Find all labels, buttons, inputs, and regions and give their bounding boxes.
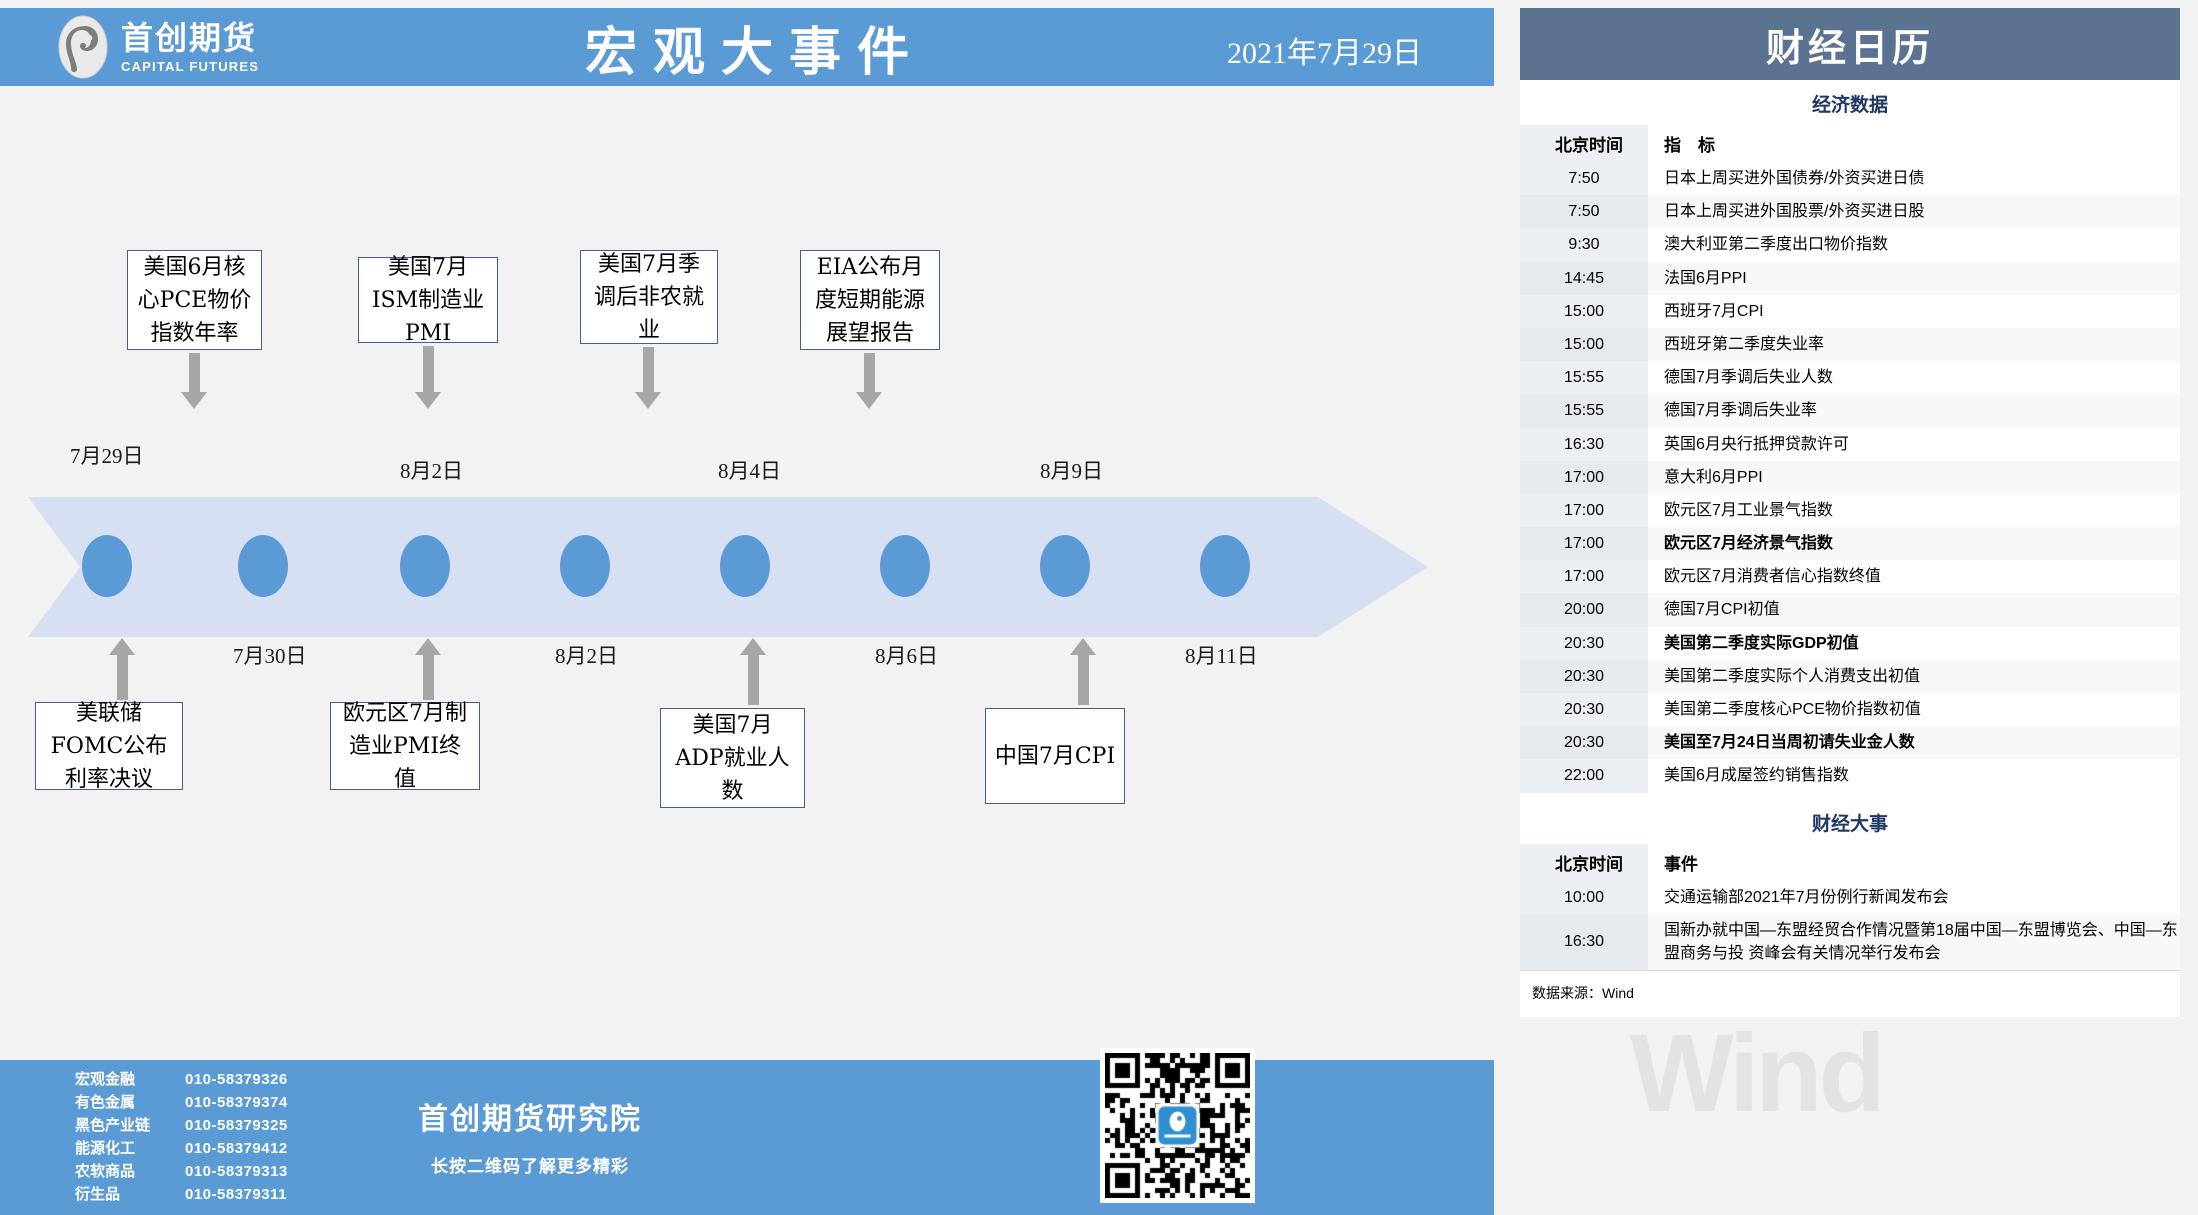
arrow-stem-top-2 — [643, 347, 654, 393]
col-header-event: 事件 — [1648, 844, 2180, 881]
cell-time: 20:30 — [1520, 627, 1648, 660]
contact-phone: 010-58379326 — [185, 1072, 288, 1087]
table-row[interactable]: 17:00意大利6月PPI — [1520, 461, 2180, 494]
events-section-title: 财经大事 — [1520, 793, 2180, 844]
table-row[interactable]: 20:30美国第二季度实际个人消费支出初值 — [1520, 660, 2180, 693]
arrow-stem-top-0 — [189, 353, 200, 393]
timeline-dot-2 — [400, 535, 450, 597]
table-header-row: 北京时间 事件 — [1520, 844, 2180, 881]
cell-indicator: 欧元区7月消费者信心指数终值 — [1648, 560, 2180, 593]
brand-name-en: CAPITAL FUTURES — [121, 60, 259, 73]
timeline-top-label-3: 8月9日 — [1040, 455, 1103, 485]
arrow-head-down-0 — [181, 392, 207, 409]
timeline-bottom-label-1: 8月2日 — [555, 640, 618, 670]
cell-time: 15:00 — [1520, 295, 1648, 328]
cell-indicator: 欧元区7月工业景气指数 — [1648, 494, 2180, 527]
event-box-bottom-2: 美国7月ADP就业人数 — [660, 708, 805, 808]
cell-time: 16:30 — [1520, 914, 1648, 970]
table-row[interactable]: 15:00西班牙7月CPI — [1520, 295, 2180, 328]
cell-time: 16:30 — [1520, 428, 1648, 461]
events-table: 北京时间 事件 10:00交通运输部2021年7月份例行新闻发布会16:30国新… — [1520, 844, 2180, 971]
arrow-head-down-3 — [856, 392, 882, 409]
cell-event: 国新办就中国—东盟经贸合作情况暨第18届中国—东盟博览会、中国—东盟商务与投 资… — [1648, 914, 2180, 970]
cell-time: 20:00 — [1520, 593, 1648, 626]
brand-name-cn: 首创期货 — [121, 22, 259, 54]
event-box-top-1: 美国7月ISM制造业PMI — [358, 257, 498, 343]
cell-indicator: 德国7月季调后失业人数 — [1648, 361, 2180, 394]
cell-time: 20:30 — [1520, 726, 1648, 759]
cell-indicator: 美国第二季度实际个人消费支出初值 — [1648, 660, 2180, 693]
footer-center: 首创期货研究院 长按二维码了解更多精彩 — [0, 1094, 1060, 1177]
arrow-stem-bottom-3 — [1078, 655, 1089, 705]
timeline-dot-5 — [880, 535, 930, 597]
qr-code-icon[interactable] — [1100, 1048, 1255, 1203]
table-row[interactable]: 20:30美国至7月24日当周初请失业金人数 — [1520, 726, 2180, 759]
arrow-stem-top-1 — [423, 346, 434, 393]
col-header-indicator: 指 标 — [1648, 125, 2180, 162]
table-row[interactable]: 17:00欧元区7月消费者信心指数终值 — [1520, 560, 2180, 593]
timeline-top-label-1: 8月2日 — [400, 455, 463, 485]
footer-org-name: 首创期货研究院 — [0, 1094, 1060, 1138]
timeline-bottom-label-3: 8月11日 — [1185, 640, 1258, 670]
table-row[interactable]: 7:50日本上周买进外国股票/外资买进日股 — [1520, 195, 2180, 228]
calendar-title: 财经日历 — [1520, 8, 2180, 80]
cell-indicator: 美国至7月24日当周初请失业金人数 — [1648, 726, 2180, 759]
event-box-top-2: 美国7月季调后非农就业 — [580, 250, 718, 344]
table-row[interactable]: 10:00交通运输部2021年7月份例行新闻发布会 — [1520, 881, 2180, 914]
cell-indicator: 欧元区7月经济景气指数 — [1648, 527, 2180, 560]
cell-time: 20:30 — [1520, 693, 1648, 726]
timeline-dot-7 — [1200, 535, 1250, 597]
cell-indicator: 意大利6月PPI — [1648, 461, 2180, 494]
header-date: 2021年7月29日 — [1227, 28, 1422, 72]
table-row[interactable]: 15:55德国7月季调后失业人数 — [1520, 361, 2180, 394]
event-box-bottom-1: 欧元区7月制造业PMI终值 — [330, 702, 480, 790]
cell-time: 10:00 — [1520, 881, 1648, 914]
footer-cta: 长按二维码了解更多精彩 — [0, 1152, 1060, 1177]
timeline-bottom-label-0: 7月30日 — [233, 640, 307, 670]
timeline-dot-4 — [720, 535, 770, 597]
contact-row: 宏观金融010-58379326 — [75, 1072, 288, 1087]
table-row[interactable]: 20:30美国第二季度核心PCE物价指数初值 — [1520, 693, 2180, 726]
arrow-head-down-2 — [635, 392, 661, 409]
table-row[interactable]: 20:30美国第二季度实际GDP初值 — [1520, 627, 2180, 660]
cell-time: 17:00 — [1520, 560, 1648, 593]
col-header-time: 北京时间 — [1520, 844, 1648, 881]
col-header-time: 北京时间 — [1520, 125, 1648, 162]
timeline-dot-3 — [560, 535, 610, 597]
cell-time: 17:00 — [1520, 527, 1648, 560]
cell-time: 15:55 — [1520, 361, 1648, 394]
cell-indicator: 西班牙7月CPI — [1648, 295, 2180, 328]
table-row[interactable]: 9:30澳大利亚第二季度出口物价指数 — [1520, 228, 2180, 261]
timeline-dot-6 — [1040, 535, 1090, 597]
cell-time: 7:50 — [1520, 162, 1648, 195]
cell-indicator: 德国7月季调后失业率 — [1648, 394, 2180, 427]
cell-time: 9:30 — [1520, 228, 1648, 261]
cell-indicator: 美国第二季度实际GDP初值 — [1648, 627, 2180, 660]
event-box-bottom-3: 中国7月CPI — [985, 708, 1125, 804]
cell-indicator: 美国6月成屋签约销售指数 — [1648, 759, 2180, 792]
right-panel: Wind Wind Wind 财经日历 经济数据 北京时间 指 标 7:50日本… — [1500, 0, 2198, 1215]
table-header-row: 北京时间 指 标 — [1520, 125, 2180, 162]
arrow-head-up-0 — [109, 638, 135, 655]
cell-event: 交通运输部2021年7月份例行新闻发布会 — [1648, 881, 2180, 914]
contact-name: 衍生品 — [75, 1187, 185, 1202]
arrow-head-up-3 — [1070, 638, 1096, 655]
table-row[interactable]: 20:00德国7月CPI初值 — [1520, 593, 2180, 626]
table-row[interactable]: 15:00西班牙第二季度失业率 — [1520, 328, 2180, 361]
event-box-top-0: 美国6月核心PCE物价指数年率 — [127, 250, 262, 350]
contact-phone: 010-58379311 — [185, 1187, 287, 1202]
table-row[interactable]: 7:50日本上周买进外国债券/外资买进日债 — [1520, 162, 2180, 195]
contact-row: 衍生品010-58379311 — [75, 1187, 288, 1202]
table-row[interactable]: 17:00欧元区7月工业景气指数 — [1520, 494, 2180, 527]
timeline-top-label-0: 7月29日 — [70, 440, 144, 470]
cell-time: 15:55 — [1520, 394, 1648, 427]
timeline-top-label-2: 8月4日 — [718, 455, 781, 485]
cell-time: 15:00 — [1520, 328, 1648, 361]
cell-indicator: 日本上周买进外国债券/外资买进日债 — [1648, 162, 2180, 195]
cell-time: 14:45 — [1520, 262, 1648, 295]
timeline-dot-1 — [238, 535, 288, 597]
economic-data-table: 北京时间 指 标 7:50日本上周买进外国债券/外资买进日债7:50日本上周买进… — [1520, 125, 2180, 793]
cell-time: 17:00 — [1520, 461, 1648, 494]
table-row[interactable]: 16:30国新办就中国—东盟经贸合作情况暨第18届中国—东盟博览会、中国—东盟商… — [1520, 914, 2180, 970]
arrow-stem-bottom-1 — [423, 655, 434, 700]
table-row[interactable]: 22:00美国6月成屋签约销售指数 — [1520, 759, 2180, 792]
table-row[interactable]: 14:45法国6月PPI — [1520, 262, 2180, 295]
cell-time: 17:00 — [1520, 494, 1648, 527]
arrow-stem-top-3 — [864, 353, 875, 393]
event-box-bottom-0: 美联储FOMC公布利率决议 — [35, 702, 183, 790]
timeline-dot-0 — [82, 535, 132, 597]
left-panel: 宏观大事件 首创期货 CAPITAL FUTURES 2021年7月29日 美国… — [0, 0, 1500, 1215]
cell-indicator: 法国6月PPI — [1648, 262, 2180, 295]
cell-indicator: 美国第二季度核心PCE物价指数初值 — [1648, 693, 2180, 726]
event-box-top-3: EIA公布月度短期能源展望报告 — [800, 250, 940, 350]
cell-indicator: 澳大利亚第二季度出口物价指数 — [1648, 228, 2180, 261]
arrow-head-up-2 — [740, 638, 766, 655]
cell-indicator: 英国6月央行抵押贷款许可 — [1648, 428, 2180, 461]
cell-time: 20:30 — [1520, 660, 1648, 693]
arrow-stem-bottom-0 — [117, 655, 128, 700]
brand-logo: 首创期货 CAPITAL FUTURES — [55, 14, 259, 80]
macro-events-poster: 宏观大事件 首创期货 CAPITAL FUTURES 2021年7月29日 美国… — [0, 0, 2198, 1215]
cell-indicator: 日本上周买进外国股票/外资买进日股 — [1648, 195, 2180, 228]
table-row[interactable]: 16:30英国6月央行抵押贷款许可 — [1520, 428, 2180, 461]
cell-time: 7:50 — [1520, 195, 1648, 228]
cell-indicator: 西班牙第二季度失业率 — [1648, 328, 2180, 361]
watermark-3: Wind — [1630, 1010, 1882, 1137]
capital-futures-logo-icon — [55, 14, 111, 80]
arrow-stem-bottom-2 — [748, 655, 759, 705]
table-row[interactable]: 15:55德国7月季调后失业率 — [1520, 394, 2180, 427]
header-bar: 宏观大事件 首创期货 CAPITAL FUTURES 2021年7月29日 — [0, 8, 1494, 86]
footer-bar: 宏观金融010-58379326有色金属010-58379374黑色产业链010… — [0, 1060, 1494, 1215]
table-row[interactable]: 17:00欧元区7月经济景气指数 — [1520, 527, 2180, 560]
timeline-bottom-label-2: 8月6日 — [875, 640, 938, 670]
data-source-label: 数据来源：Wind — [1520, 971, 2180, 1017]
cell-indicator: 德国7月CPI初值 — [1648, 593, 2180, 626]
financial-calendar-card: 财经日历 经济数据 北京时间 指 标 7:50日本上周买进外国债券/外资买进日债… — [1520, 8, 2180, 1017]
contact-name: 宏观金融 — [75, 1072, 185, 1087]
economic-data-section-title: 经济数据 — [1520, 80, 2180, 125]
cell-time: 22:00 — [1520, 759, 1648, 792]
arrow-head-up-1 — [415, 638, 441, 655]
arrow-head-down-1 — [415, 392, 441, 409]
